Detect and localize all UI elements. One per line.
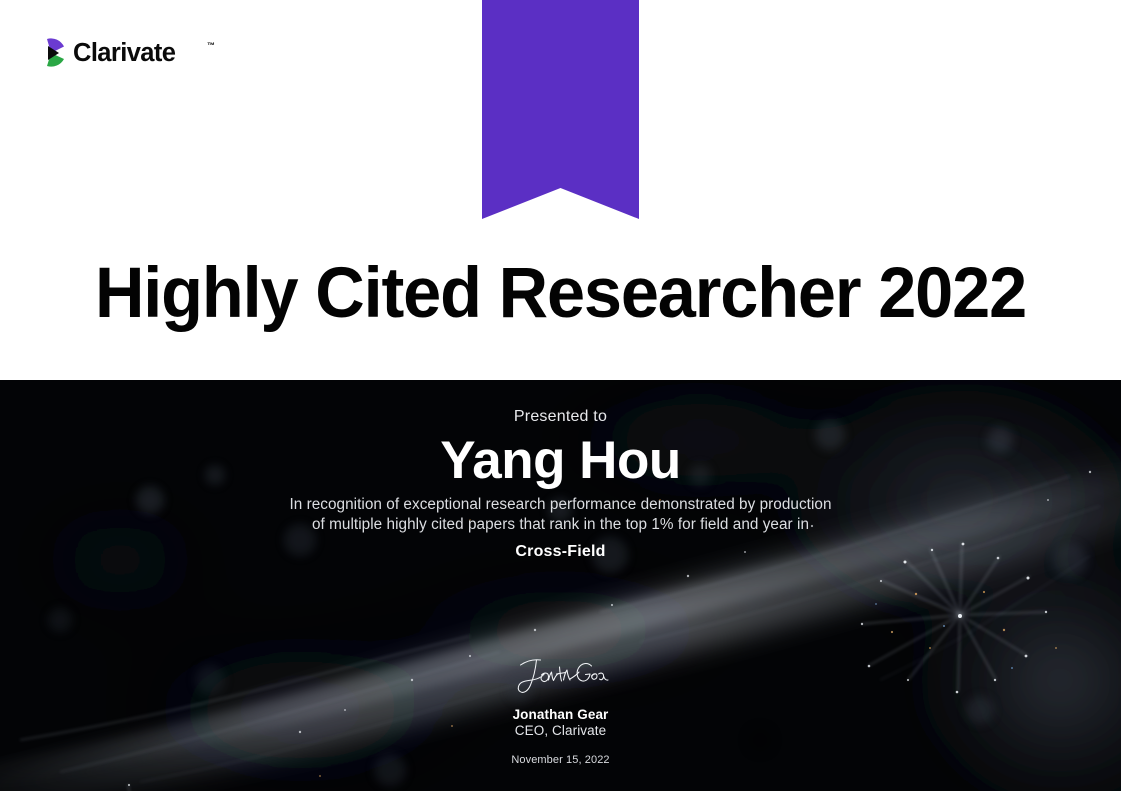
signature-block: Jonathan Gear CEO, Clarivate November 15…: [0, 652, 1121, 766]
citation-text: In recognition of exceptional research p…: [0, 495, 1121, 535]
trademark-symbol: ™: [207, 41, 215, 50]
signer-title: CEO, Clarivate: [0, 723, 1121, 738]
wordmark-text: Clarivate: [73, 39, 176, 67]
clarivate-wordmark: Clarivate ™: [73, 38, 223, 68]
certificate: Clarivate ™ Highly Cited Researcher 2022: [0, 0, 1121, 791]
citation-line-2: of multiple highly cited papers that ran…: [0, 515, 1121, 535]
award-content: Presented to Yang Hou In recognition of …: [0, 380, 1121, 791]
page-title: Highly Cited Researcher 2022: [20, 258, 1102, 329]
award-ribbon-icon: [482, 0, 639, 219]
signer-name: Jonathan Gear: [0, 707, 1121, 722]
clarivate-logo: Clarivate ™: [36, 33, 223, 73]
certificate-header: Clarivate ™ Highly Cited Researcher 2022: [0, 0, 1121, 380]
award-field: Cross-Field: [0, 543, 1121, 561]
presented-to-label: Presented to: [0, 408, 1121, 426]
citation-line-1: In recognition of exceptional research p…: [0, 495, 1121, 515]
handwritten-signature-icon: [513, 652, 609, 700]
issue-date: November 15, 2022: [0, 754, 1121, 766]
clarivate-logo-mark: [36, 38, 66, 68]
recipient-name: Yang Hou: [0, 430, 1121, 491]
certificate-body: Presented to Yang Hou In recognition of …: [0, 380, 1121, 791]
